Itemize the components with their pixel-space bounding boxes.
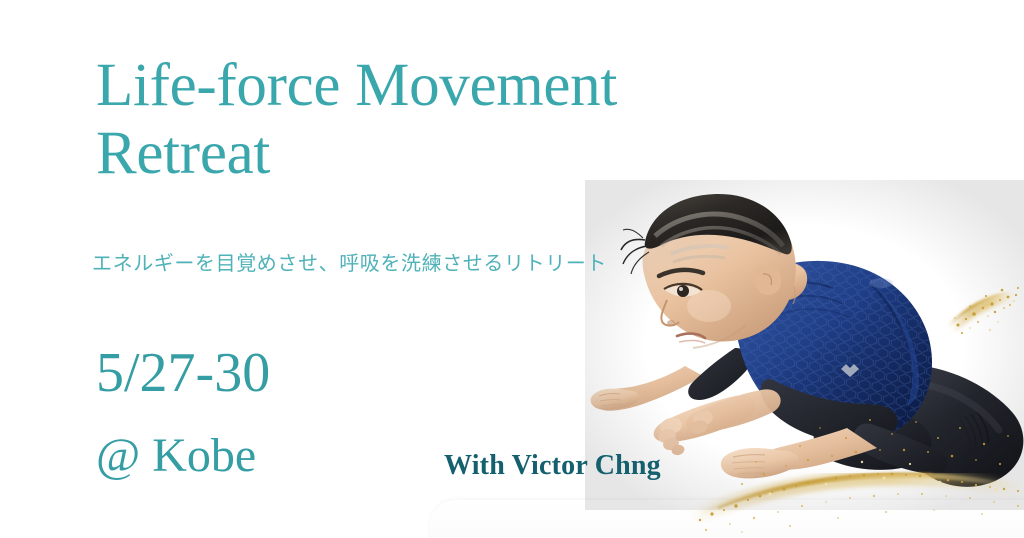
promo-banner: Life-force Movement Retreat エネルギーを目覚めさせ、… [0,0,1024,538]
event-date: 5/27-30 [96,342,270,404]
presenter-name: With Victor Chng [444,449,661,483]
subtitle-japanese: エネルギーを目覚めさせ、呼吸を洗練させるリトリート [92,250,607,276]
title-line-2: Retreat [96,120,836,188]
event-location: @ Kobe [96,428,256,484]
title-line-1: Life-force Movement [96,52,836,120]
page-title: Life-force Movement Retreat [96,52,836,188]
